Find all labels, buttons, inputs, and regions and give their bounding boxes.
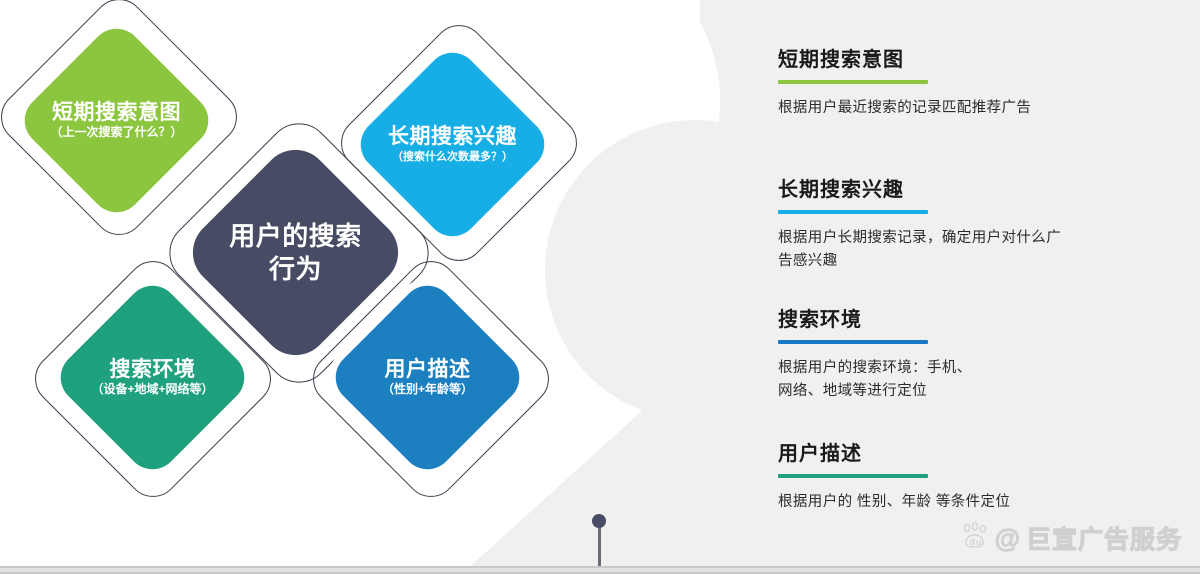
diamond-short-term-intent[interactable]: 短期搜索意图 （上一次搜索了什么？） [14, 18, 219, 223]
detail-rule [778, 210, 928, 214]
diamond-center-label: 用户的搜索 行为 [213, 170, 378, 335]
watermark: du @ 巨宣广告服务 [960, 520, 1182, 556]
watermark-at: @ [995, 525, 1021, 551]
diamond-long-term-interest-label: 长期搜索兴趣 （搜索什么次数最多？） [380, 72, 525, 217]
diamond-subtitle: （上一次搜索了什么？） [50, 126, 182, 140]
detail-body: 根据用户的搜索环境：手机、 网络、地域等进行定位 [778, 357, 1178, 403]
diamond-title: 短期搜索意图 [52, 101, 181, 125]
diamond-subtitle: （设备+地域+网络等） [91, 383, 213, 397]
svg-text:du: du [969, 537, 982, 547]
detail-block-short-term-intent: 短期搜索意图 根据用户最近搜索的记录匹配推荐广告 [778, 48, 1178, 120]
detail-block-long-term-interest: 长期搜索兴趣 根据用户长期搜索记录，确定用户对什么广 告感兴趣 [778, 178, 1178, 273]
bottom-strip-inner [0, 568, 1200, 572]
diamond-title: 搜索环境 [110, 358, 196, 382]
diamond-title: 用户描述 [385, 358, 471, 382]
watermark-text: 巨宣广告服务 [1026, 520, 1182, 556]
detail-body: 根据用户的 性别、年龄 等条件定位 [778, 491, 1178, 514]
detail-block-user-profile: 用户描述 根据用户的 性别、年龄 等条件定位 [778, 442, 1178, 514]
details-column: 短期搜索意图 根据用户最近搜索的记录匹配推荐广告 长期搜索兴趣 根据用户长期搜索… [778, 0, 1178, 574]
detail-heading: 长期搜索兴趣 [778, 178, 1178, 202]
detail-body: 根据用户长期搜索记录，确定用户对什么广 告感兴趣 [778, 227, 1178, 273]
detail-body: 根据用户最近搜索的记录匹配推荐广告 [778, 97, 1178, 120]
slide-root: 短期搜索意图 （上一次搜索了什么？） 长期搜索兴趣 （搜索什么次数最多？） 搜索… [0, 0, 1200, 574]
diamond-diagram: 短期搜索意图 （上一次搜索了什么？） 长期搜索兴趣 （搜索什么次数最多？） 搜索… [0, 0, 700, 574]
diamond-search-environment-label: 搜索环境 （设备+地域+网络等） [80, 305, 225, 450]
detail-heading: 搜索环境 [778, 308, 1178, 332]
diamond-short-term-intent-label: 短期搜索意图 （上一次搜索了什么？） [44, 48, 189, 193]
detail-rule [778, 340, 928, 344]
detail-rule [778, 474, 928, 478]
detail-rule [778, 80, 928, 84]
diamond-center-title: 用户的搜索 行为 [229, 220, 362, 285]
diamond-subtitle: （性别+年龄等） [382, 383, 473, 397]
diamond-title: 长期搜索兴趣 [388, 125, 517, 149]
diamond-user-profile-label: 用户描述 （性别+年龄等） [355, 305, 500, 450]
baidu-paw-icon: du [960, 522, 990, 555]
pin-dot-icon [592, 514, 606, 528]
detail-heading: 用户描述 [778, 442, 1178, 466]
detail-block-search-environment: 搜索环境 根据用户的搜索环境：手机、 网络、地域等进行定位 [778, 308, 1178, 403]
diamond-subtitle: （搜索什么次数最多？） [392, 151, 513, 164]
detail-heading: 短期搜索意图 [778, 48, 1178, 72]
